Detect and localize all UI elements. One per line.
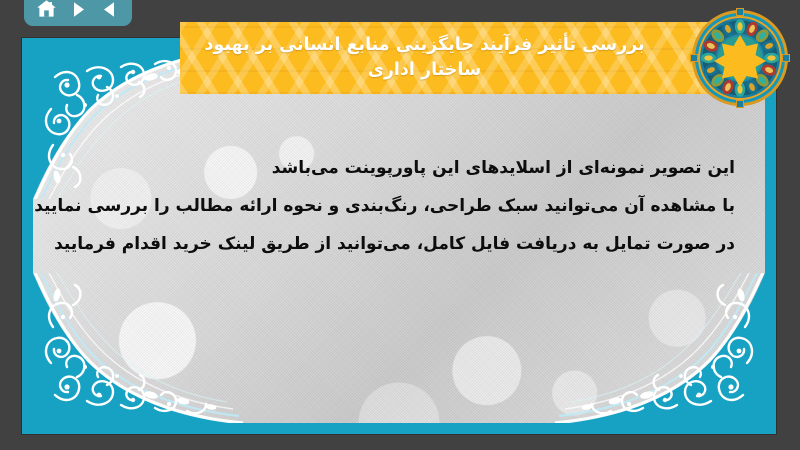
slide-body-text: این تصویر نمونه‌ای از اسلایدهای این پاور…	[63, 149, 735, 263]
body-line-2: با مشاهده آن می‌توانید سبک طراحی، رنگ‌بن…	[63, 187, 735, 225]
slide-viewer: این تصویر نمونه‌ای از اسلایدهای این پاور…	[0, 0, 800, 450]
triangle-right-icon	[69, 0, 88, 19]
title-band: بررسی تأثیر فرآیند جایگزینی منابع انسانی…	[180, 22, 725, 94]
forward-button[interactable]	[65, 0, 91, 21]
body-line-1: این تصویر نمونه‌ای از اسلایدهای این پاور…	[63, 149, 735, 187]
triangle-left-icon	[100, 0, 119, 19]
home-icon	[36, 0, 57, 19]
slide-background: این تصویر نمونه‌ای از اسلایدهای این پاور…	[33, 49, 765, 423]
back-button[interactable]	[96, 0, 122, 21]
floral-corner-ornament-icon-bottom-left	[33, 273, 243, 423]
title-arrow-decoration	[725, 22, 771, 94]
floral-corner-ornament-icon-bottom-right	[555, 273, 765, 423]
navigation-toolbar	[24, 0, 132, 26]
presentation-slide: این تصویر نمونه‌ای از اسلایدهای این پاور…	[22, 38, 776, 434]
page-title: بررسی تأثیر فرآیند جایگزینی منابع انسانی…	[180, 33, 725, 84]
body-line-3: در صورت تمایل به دریافت فایل کامل، می‌تو…	[63, 225, 735, 263]
home-button[interactable]	[34, 0, 60, 21]
slide-title-banner: بررسی تأثیر فرآیند جایگزینی منابع انسانی…	[180, 22, 771, 94]
